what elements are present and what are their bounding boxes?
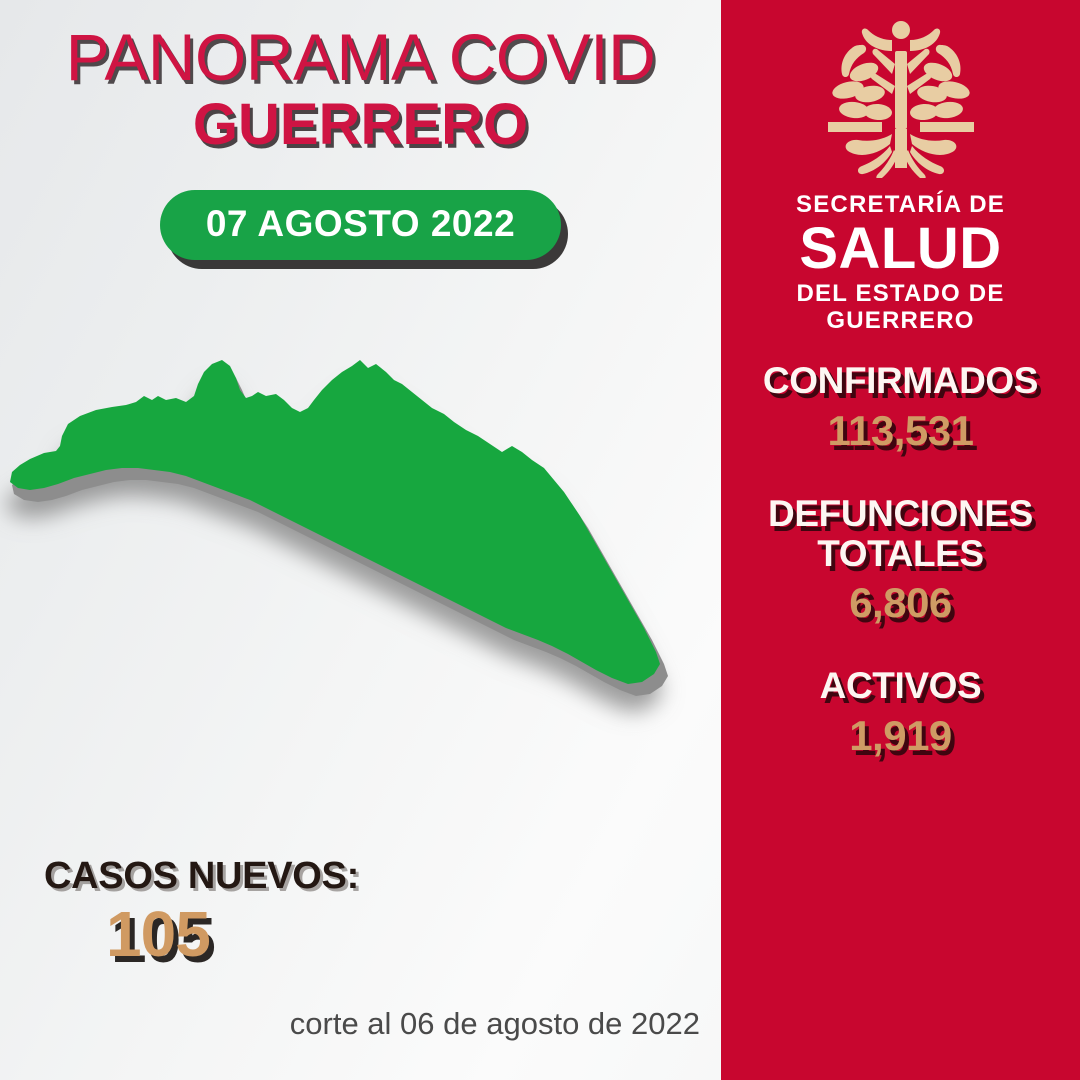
infographic-poster: PANORAMA COVID GUERRERO 07 AGOSTO 2022: [0, 0, 1080, 1080]
new-cases-label: CASOS NUEVOS:: [44, 855, 464, 898]
page-title: PANORAMA COVID GUERRERO: [0, 24, 721, 157]
date-badge: 07 AGOSTO 2022: [160, 190, 561, 260]
cutoff-note: corte al 06 de agosto de 2022: [0, 1006, 700, 1042]
guerrero-map: [0, 360, 721, 790]
statistics-list: CONFIRMADOS 113,531 DEFUNCIONES TOTALES …: [721, 361, 1080, 758]
map-top-face: [10, 360, 660, 684]
stat-value: 6,806: [721, 582, 1080, 624]
stat-label: DEFUNCIONES: [721, 494, 1080, 534]
logo-line-salud: SALUD: [721, 220, 1080, 278]
title-primary: PANORAMA COVID: [0, 24, 721, 90]
stat-confirmados: CONFIRMADOS 113,531: [721, 361, 1080, 452]
right-stats-panel: SECRETARÍA DE SALUD DEL ESTADO DE GUERRE…: [721, 0, 1080, 1080]
date-badge-container: 07 AGOSTO 2022: [0, 190, 721, 260]
new-cases-block: CASOS NUEVOS: 105: [44, 855, 464, 967]
logo-wordmark: SECRETARÍA DE SALUD DEL ESTADO DE GUERRE…: [721, 192, 1080, 335]
tree-roots-emblem-icon: [812, 18, 990, 178]
logo-line-guerrero: GUERRERO: [721, 308, 1080, 335]
new-cases-value: 105: [106, 902, 464, 967]
stat-label: CONFIRMADOS: [721, 361, 1080, 401]
logo-line-secretaria: SECRETARÍA DE: [721, 192, 1080, 219]
logo-line-del-estado: DEL ESTADO DE: [721, 281, 1080, 308]
map-svg: [0, 360, 721, 790]
stat-label-second-line: TOTALES: [721, 534, 1080, 574]
title-secondary: GUERRERO: [0, 94, 721, 157]
left-content-panel: PANORAMA COVID GUERRERO 07 AGOSTO 2022: [0, 0, 721, 1080]
stat-defunciones: DEFUNCIONES TOTALES 6,806: [721, 494, 1080, 625]
stat-activos: ACTIVOS 1,919: [721, 666, 1080, 757]
stat-value: 1,919: [721, 715, 1080, 757]
stat-label: ACTIVOS: [721, 666, 1080, 706]
stat-value: 113,531: [721, 410, 1080, 452]
